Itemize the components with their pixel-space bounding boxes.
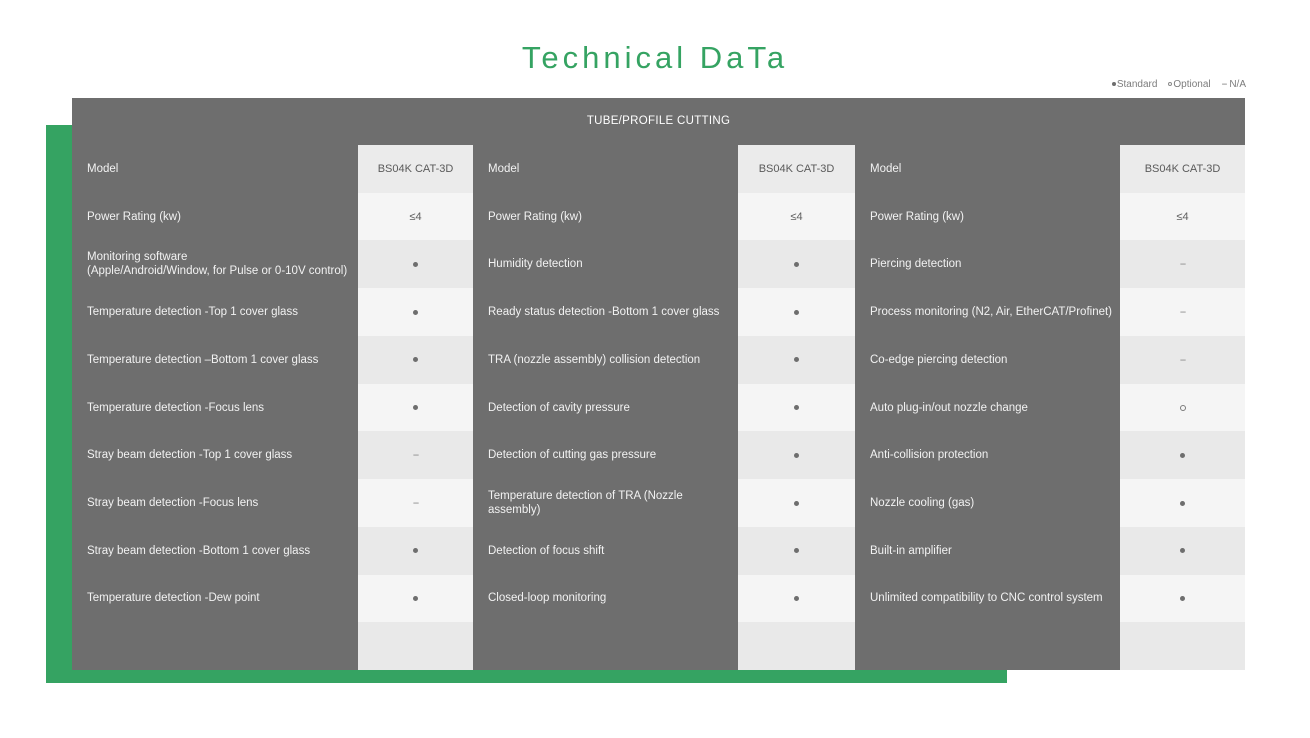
row-label: Temperature detection -Dew point	[72, 575, 358, 623]
value-text: ≤4	[790, 211, 802, 223]
hollow-circle-icon	[1180, 405, 1186, 411]
column-header-value-1: BS04K CAT-3D	[358, 145, 473, 193]
row-label: Closed-loop monitoring	[473, 575, 738, 623]
row-label: Humidity detection	[473, 240, 738, 288]
row-label: Anti-collision protection	[855, 431, 1120, 479]
page-title: Technical DaTa	[0, 40, 1310, 76]
row-value	[358, 288, 473, 336]
filled-dot-icon	[1180, 596, 1185, 601]
row-label: Piercing detection	[855, 240, 1120, 288]
hollow-circle-icon	[1168, 82, 1172, 86]
row-label: Co-edge piercing detection	[855, 336, 1120, 384]
row-value	[738, 240, 855, 288]
row-value	[1120, 527, 1245, 575]
row-value	[738, 622, 855, 670]
row-label: Detection of cutting gas pressure	[473, 431, 738, 479]
filled-dot-icon	[413, 357, 418, 362]
filled-dot-icon	[1180, 453, 1185, 458]
row-label: Temperature detection -Top 1 cover glass	[72, 288, 358, 336]
filled-dot-icon	[1180, 501, 1185, 506]
row-label	[473, 622, 738, 670]
row-label: Stray beam detection -Bottom 1 cover gla…	[72, 527, 358, 575]
row-label: Built-in amplifier	[855, 527, 1120, 575]
row-value	[358, 575, 473, 623]
row-label: Unlimited compatibility to CNC control s…	[855, 575, 1120, 623]
row-value	[358, 527, 473, 575]
filled-dot-icon	[794, 596, 799, 601]
row-label: Stray beam detection -Top 1 cover glass	[72, 431, 358, 479]
row-value: --	[1120, 288, 1245, 336]
legend-label-optional: Optional	[1173, 79, 1210, 90]
section-header: TUBE/PROFILE CUTTING	[72, 98, 1245, 145]
row-label: Power Rating (kw)	[473, 193, 738, 241]
legend-item-optional: Optional	[1168, 79, 1210, 90]
dash-icon: --	[1180, 258, 1185, 270]
filled-dot-icon	[794, 405, 799, 410]
row-value: ≤4	[1120, 193, 1245, 241]
row-value: --	[1120, 240, 1245, 288]
column-header-value-2: BS04K CAT-3D	[738, 145, 855, 193]
row-value: --	[358, 431, 473, 479]
labels-column-1: ModelPower Rating (kw)Monitoring softwar…	[72, 145, 358, 670]
row-label: Power Rating (kw)	[855, 193, 1120, 241]
filled-dot-icon	[413, 310, 418, 315]
filled-dot-icon	[794, 357, 799, 362]
column-header-value-3: BS04K CAT-3D	[1120, 145, 1245, 193]
legend: Standard Optional -- N/A	[1112, 79, 1246, 90]
row-value: ≤4	[358, 193, 473, 241]
row-label: Stray beam detection -Focus lens	[72, 479, 358, 527]
row-label: Ready status detection -Bottom 1 cover g…	[473, 288, 738, 336]
row-value	[1120, 431, 1245, 479]
dash-icon: --	[1180, 354, 1185, 366]
legend-label-na: N/A	[1229, 79, 1246, 90]
column-header-label-3: Model	[855, 145, 1120, 193]
row-label: Nozzle cooling (gas)	[855, 479, 1120, 527]
column-header-label-2: Model	[473, 145, 738, 193]
dash-icon: --	[1180, 306, 1185, 318]
table-columns: ModelPower Rating (kw)Monitoring softwar…	[72, 145, 1245, 670]
filled-dot-icon	[794, 548, 799, 553]
row-label: Temperature detection -Focus lens	[72, 384, 358, 432]
row-value	[1120, 479, 1245, 527]
row-value	[358, 622, 473, 670]
row-value	[738, 431, 855, 479]
row-label: Monitoring software(Apple/Android/Window…	[72, 240, 358, 288]
row-value: ≤4	[738, 193, 855, 241]
filled-dot-icon	[413, 548, 418, 553]
row-label: Temperature detection of TRA (Nozzle ass…	[473, 479, 738, 527]
row-label: Detection of cavity pressure	[473, 384, 738, 432]
filled-dot-icon	[413, 262, 418, 267]
filled-dot-icon	[794, 501, 799, 506]
values-column-2: BS04K CAT-3D≤4	[738, 145, 855, 670]
values-column-3: BS04K CAT-3D≤4------	[1120, 145, 1245, 670]
row-label: Process monitoring (N2, Air, EtherCAT/Pr…	[855, 288, 1120, 336]
row-value	[358, 240, 473, 288]
filled-dot-icon	[413, 405, 418, 410]
row-value: --	[358, 479, 473, 527]
row-value	[738, 384, 855, 432]
legend-item-na: -- N/A	[1222, 79, 1246, 90]
row-value	[738, 479, 855, 527]
row-label: Temperature detection –Bottom 1 cover gl…	[72, 336, 358, 384]
accent-bar-horizontal	[46, 669, 1007, 683]
column-header-label-1: Model	[72, 145, 358, 193]
dash-icon: --	[413, 449, 418, 461]
technical-data-table: TUBE/PROFILE CUTTING ModelPower Rating (…	[72, 98, 1245, 670]
filled-dot-icon	[413, 596, 418, 601]
filled-dot-icon	[1112, 82, 1116, 86]
dash-icon: --	[1222, 79, 1227, 90]
row-value	[738, 575, 855, 623]
value-text: ≤4	[1176, 211, 1188, 223]
legend-label-standard: Standard	[1117, 79, 1158, 90]
row-value	[1120, 575, 1245, 623]
accent-bar-vertical	[46, 125, 72, 683]
row-label: TRA (nozzle assembly) collision detectio…	[473, 336, 738, 384]
row-value: --	[1120, 336, 1245, 384]
dash-icon: --	[413, 497, 418, 509]
row-value	[738, 527, 855, 575]
labels-column-3: ModelPower Rating (kw)Piercing detection…	[855, 145, 1120, 670]
filled-dot-icon	[794, 453, 799, 458]
labels-column-2: ModelPower Rating (kw)Humidity detection…	[473, 145, 738, 670]
row-value	[738, 336, 855, 384]
filled-dot-icon	[1180, 548, 1185, 553]
row-label: Detection of focus shift	[473, 527, 738, 575]
filled-dot-icon	[794, 262, 799, 267]
values-column-1: BS04K CAT-3D≤4----	[358, 145, 473, 670]
value-text: ≤4	[409, 211, 421, 223]
row-value	[1120, 384, 1245, 432]
row-value	[358, 336, 473, 384]
column-block-3: ModelPower Rating (kw)Piercing detection…	[855, 145, 1245, 670]
row-label	[72, 622, 358, 670]
column-block-2: ModelPower Rating (kw)Humidity detection…	[473, 145, 855, 670]
column-block-1: ModelPower Rating (kw)Monitoring softwar…	[72, 145, 473, 670]
legend-item-standard: Standard	[1112, 79, 1158, 90]
row-value	[738, 288, 855, 336]
filled-dot-icon	[794, 310, 799, 315]
row-value	[358, 384, 473, 432]
row-label: Power Rating (kw)	[72, 193, 358, 241]
row-label: Auto plug-in/out nozzle change	[855, 384, 1120, 432]
row-value	[1120, 622, 1245, 670]
row-label	[855, 622, 1120, 670]
